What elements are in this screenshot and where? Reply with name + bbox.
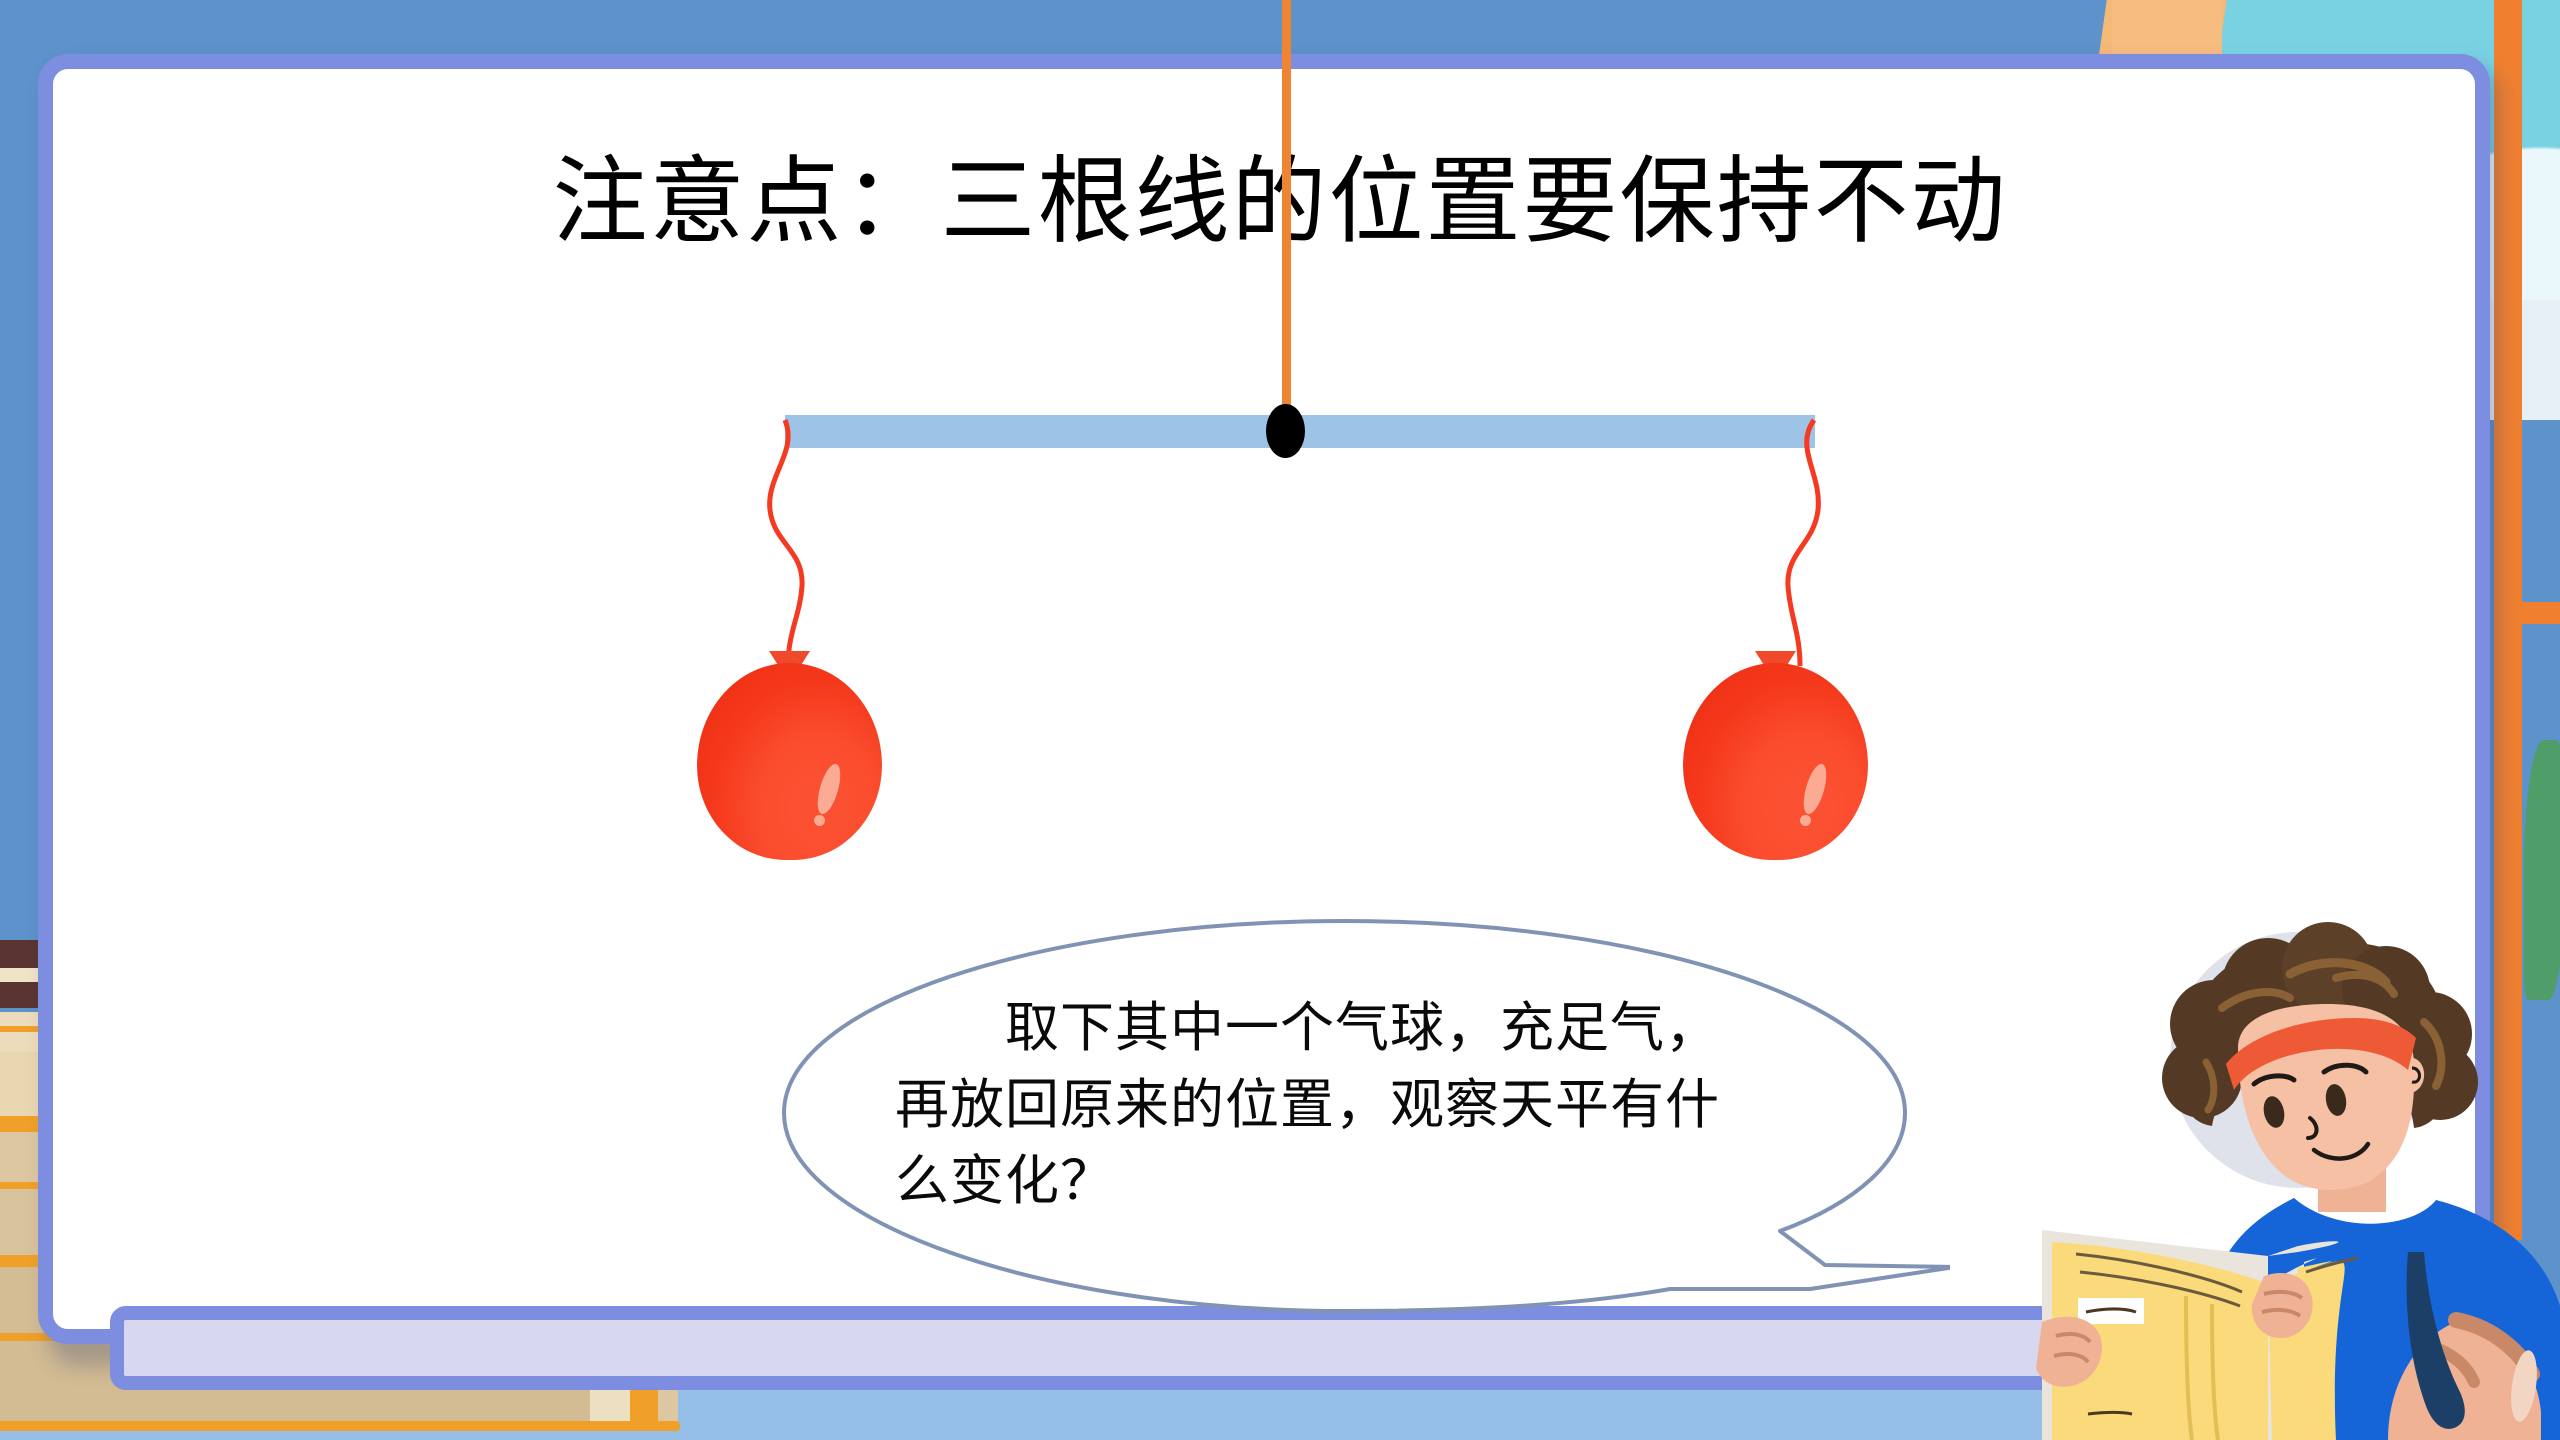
- page-title: 注意点：三根线的位置要保持不动: [0, 145, 2560, 259]
- balloon-left: [697, 645, 882, 860]
- speech-bubble-text: 取下其中一个气球，充足气，再放回原来的位置，观察天平有什么变化？: [895, 990, 1755, 1220]
- orange-arm-decor: [2494, 602, 2560, 624]
- pivot-point: [1266, 404, 1305, 458]
- balloon-body: [697, 663, 882, 860]
- orange-block-decor-2: [2112, 0, 2222, 62]
- balloon-right: [1683, 645, 1868, 860]
- balloon-string-right: [1722, 418, 1852, 668]
- balloon-string-left: [740, 418, 870, 668]
- student-character-illustration: [2036, 912, 2560, 1440]
- balloon-highlight-dot: [814, 815, 825, 826]
- balloon-body: [1683, 663, 1868, 860]
- balloon-highlight-dot: [1800, 815, 1811, 826]
- book-item: [0, 1421, 680, 1431]
- speech-bubble: 取下其中一个气球，充足气，再放回原来的位置，观察天平有什么变化？: [770, 915, 1950, 1315]
- slide-canvas: 注意点：三根线的位置要保持不动 取下其中一个气球，充足气，再放回原来的位置，观察…: [0, 0, 2560, 1440]
- hanger-line: [1282, 0, 1291, 430]
